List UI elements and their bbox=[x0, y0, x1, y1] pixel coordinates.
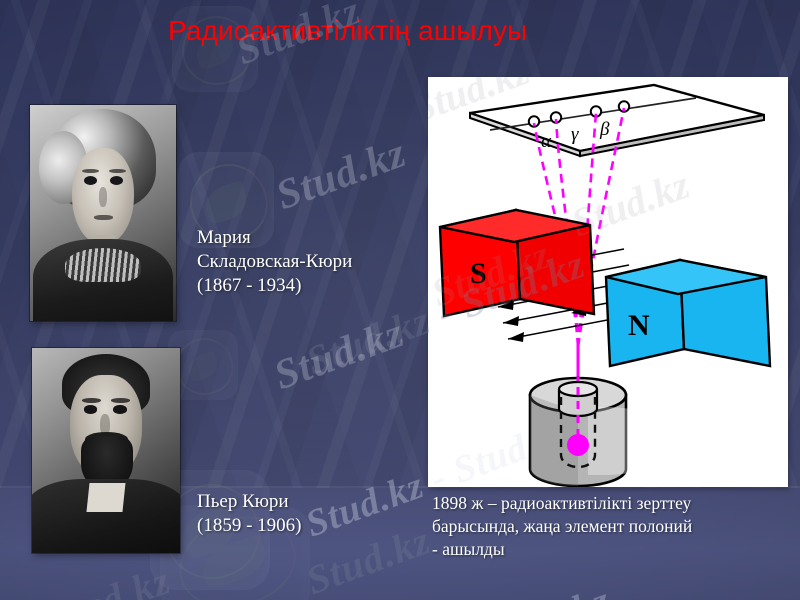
radioactive-source bbox=[567, 434, 589, 456]
bottom-caption-line: барысында, жаңа элемент полоний bbox=[432, 515, 794, 538]
svg-text:Stud.kz: Stud.kz bbox=[566, 162, 696, 246]
caption-line: Пьер Кюри bbox=[197, 490, 407, 514]
caption-line: (1867 - 1934) bbox=[197, 274, 407, 298]
presentation-slide: Радиоактивтіліктің ашылуы bbox=[0, 0, 800, 600]
bottom-caption: 1898 ж – радиоактивтілікті зерттеу барыс… bbox=[432, 492, 794, 560]
lead-container bbox=[530, 377, 680, 486]
caption-line: Складовская-Кюри bbox=[197, 250, 407, 274]
caption-line: Мария bbox=[197, 226, 407, 250]
beta-label: β bbox=[599, 119, 610, 140]
magnet-north: N bbox=[606, 260, 770, 366]
magnet-north-label: N bbox=[628, 309, 650, 342]
portrait-image-marie bbox=[30, 105, 176, 321]
alpha-label: α bbox=[541, 131, 552, 152]
page-title: Радиоактивтіліктің ашылуы bbox=[168, 16, 688, 45]
caption-line: (1859 - 1906) bbox=[197, 514, 407, 538]
diagram-panel: α γ β bbox=[428, 77, 788, 487]
bottom-caption-line: 1898 ж – радиоактивтілікті зерттеу bbox=[432, 492, 794, 515]
portrait-marie-curie bbox=[30, 105, 176, 321]
caption-marie-curie: Мария Складовская-Кюри (1867 - 1934) bbox=[197, 226, 407, 298]
bottom-caption-line: - ашылды bbox=[432, 538, 794, 561]
caption-pierre-curie: Пьер Кюри (1859 - 1906) bbox=[197, 490, 407, 538]
portrait-pierre-curie bbox=[32, 348, 180, 553]
portrait-image-pierre bbox=[32, 348, 180, 553]
gamma-label: γ bbox=[571, 124, 579, 145]
radioactivity-deflection-diagram: α γ β bbox=[428, 77, 788, 487]
